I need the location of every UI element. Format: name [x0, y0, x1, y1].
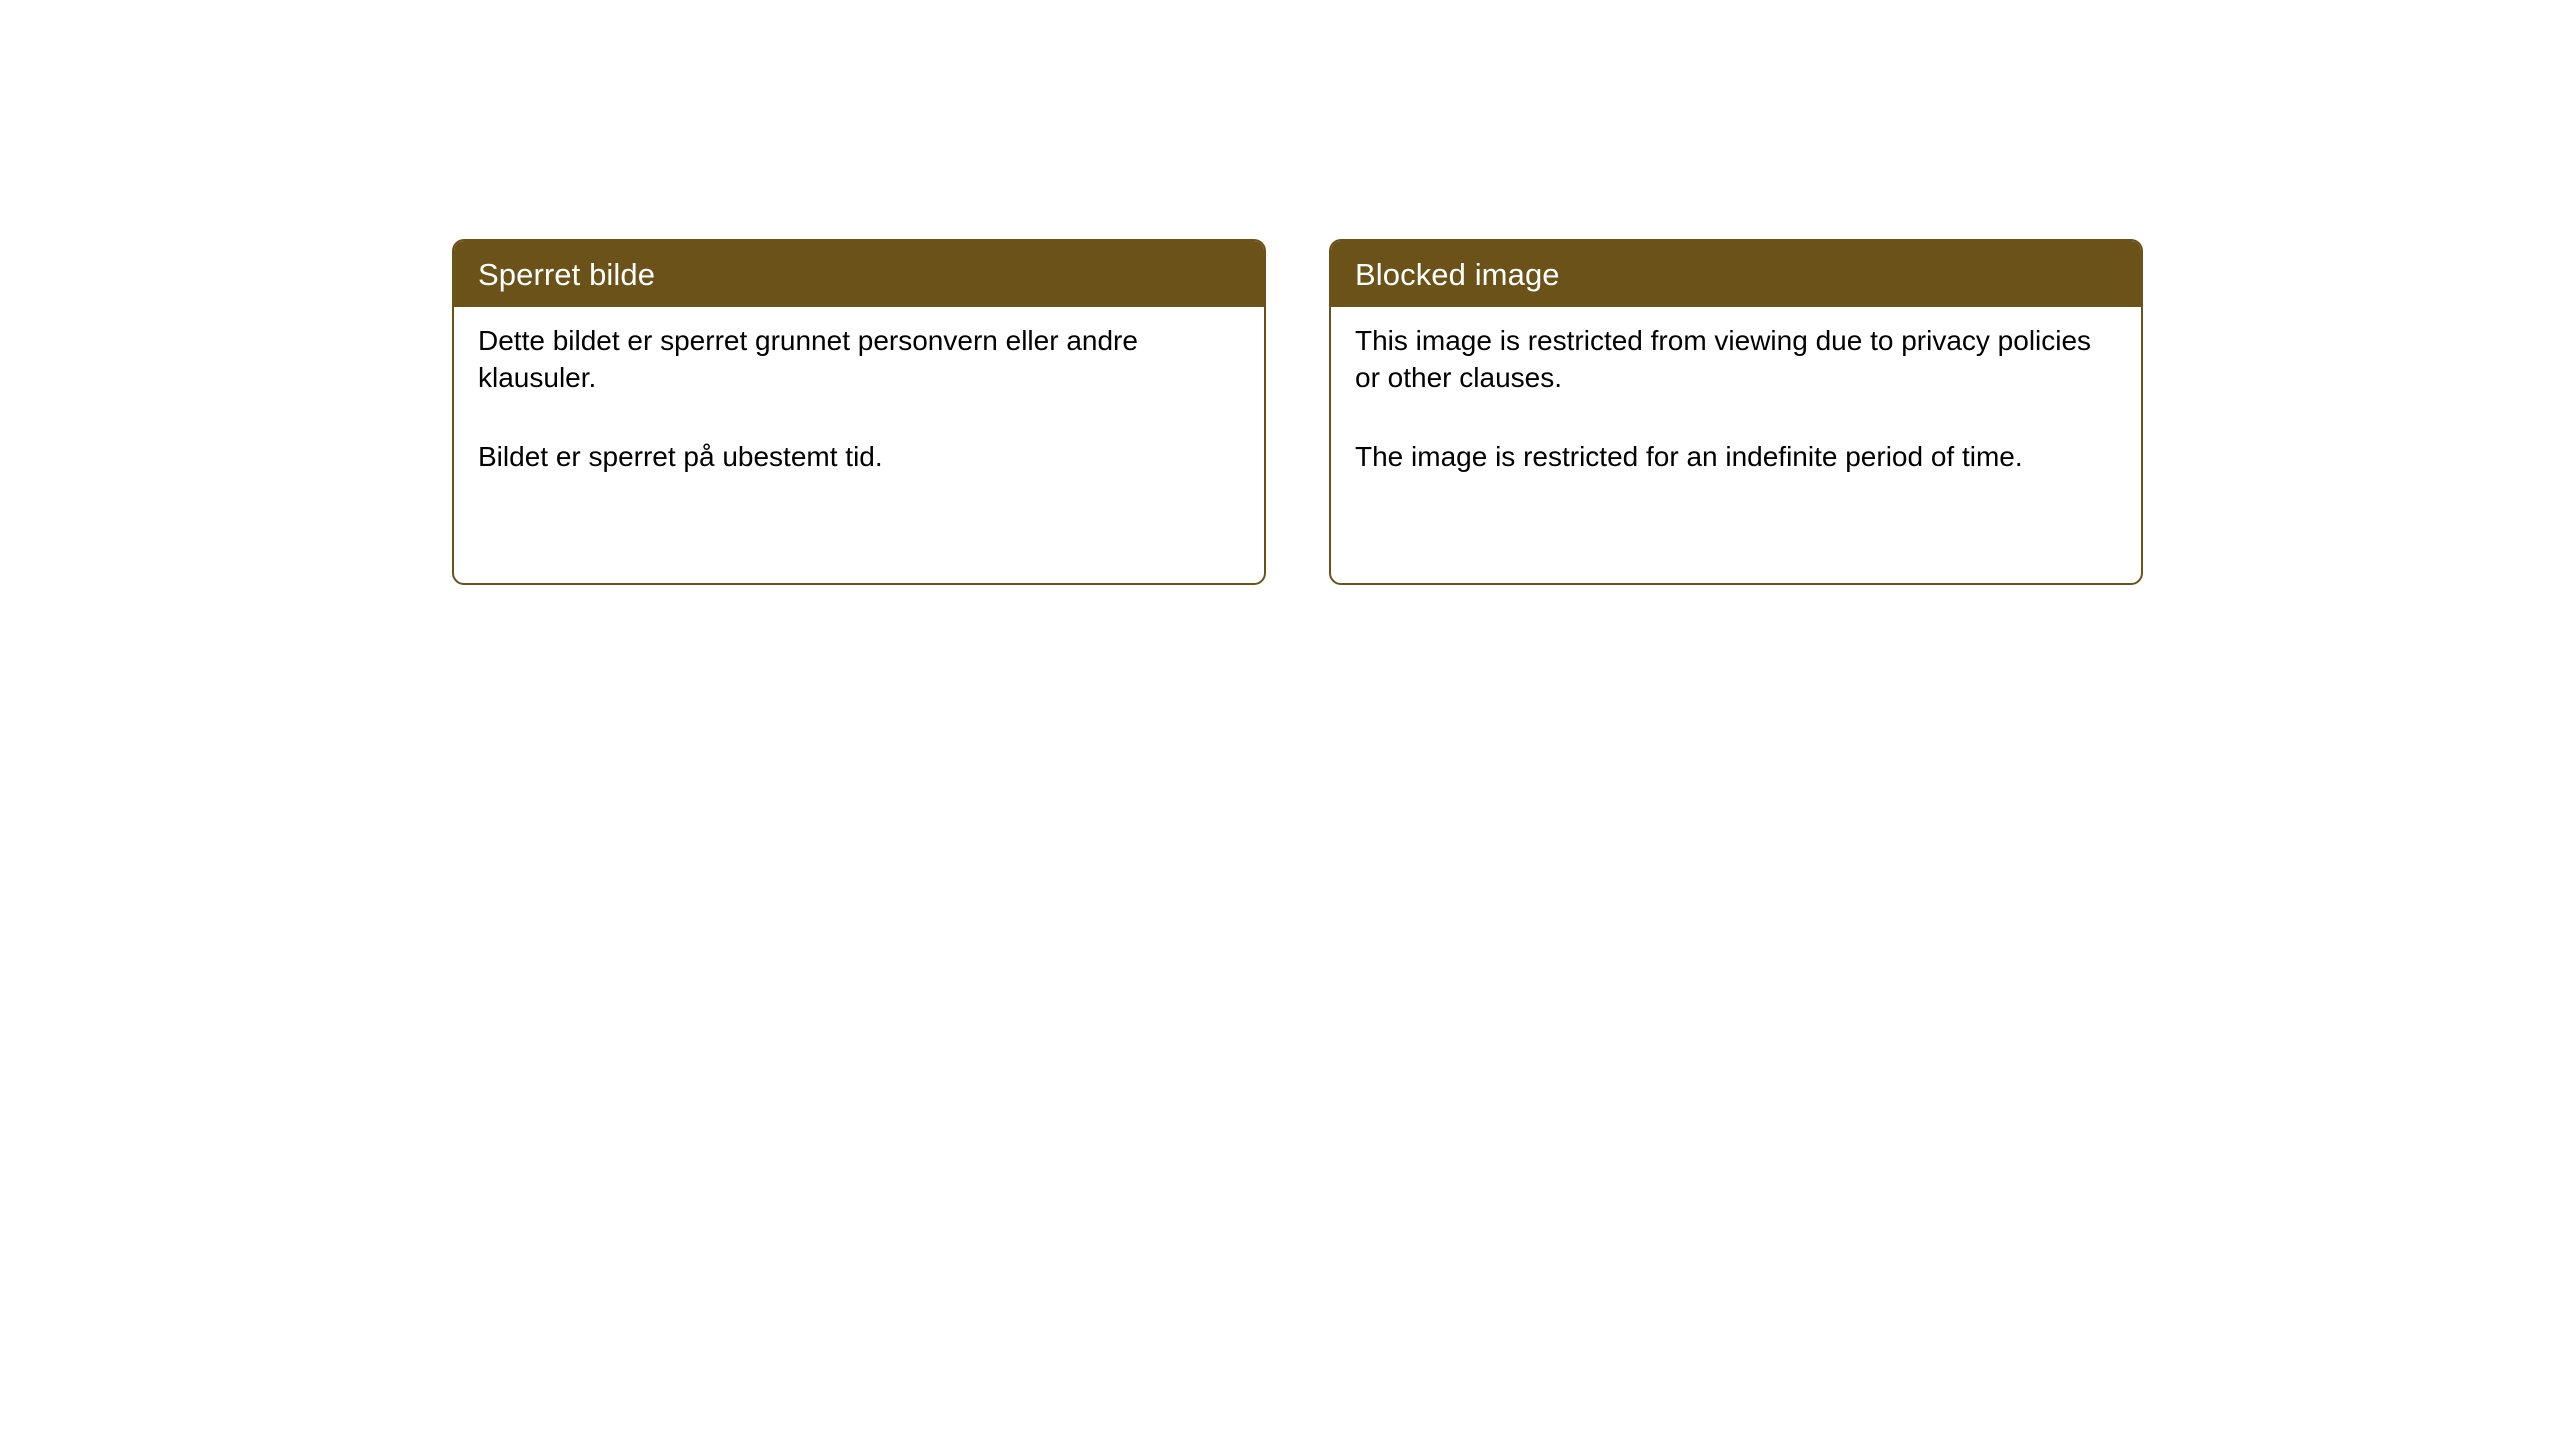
- card-body-en: This image is restricted from viewing du…: [1331, 307, 2141, 476]
- card-header-no: Sperret bilde: [454, 241, 1264, 307]
- blocked-image-notice-card-no: Sperret bilde Dette bildet er sperret gr…: [452, 239, 1266, 585]
- card-title-no: Sperret bilde: [478, 259, 655, 290]
- card-title-en: Blocked image: [1355, 259, 1560, 290]
- card-paragraph-secondary-en: The image is restricted for an indefinit…: [1355, 439, 2121, 476]
- card-paragraph-primary-en: This image is restricted from viewing du…: [1355, 323, 2121, 397]
- page-root: Sperret bilde Dette bildet er sperret gr…: [0, 0, 2560, 1440]
- card-paragraph-secondary-no: Bildet er sperret på ubestemt tid.: [478, 439, 1244, 476]
- card-header-en: Blocked image: [1331, 241, 2141, 307]
- blocked-image-notice-card-en: Blocked image This image is restricted f…: [1329, 239, 2143, 585]
- card-paragraph-primary-no: Dette bildet er sperret grunnet personve…: [478, 323, 1244, 397]
- card-body-no: Dette bildet er sperret grunnet personve…: [454, 307, 1264, 476]
